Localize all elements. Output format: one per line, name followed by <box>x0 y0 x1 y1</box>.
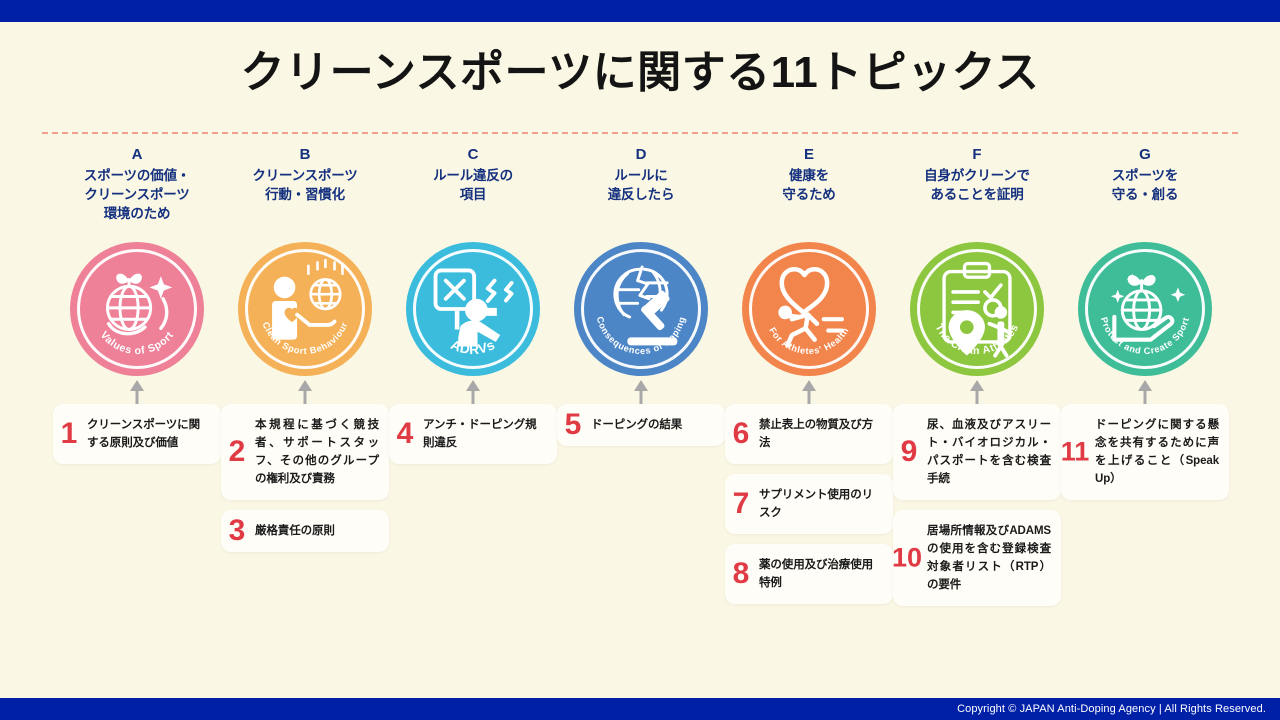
badge-f[interactable]: The Clean Athletes <box>910 242 1044 376</box>
badge-g[interactable]: Protect and Create Sport <box>1078 242 1212 376</box>
topic-column-d: Dルールに違反したら Consequences of Doping 5ドーピング… <box>557 146 725 204</box>
badge-label-arc: ADRVs <box>406 242 540 376</box>
topics-columns: Aスポーツの価値・クリーンスポーツ環境のため Values of Sport 1… <box>0 146 1280 686</box>
column-letter: G <box>1061 146 1229 164</box>
badge-label-arc: The Clean Athletes <box>910 242 1044 376</box>
column-letter: F <box>893 146 1061 164</box>
topic-column-b: Bクリーンスポーツ行動・習慣化 Clean Sport Behaviour <box>221 146 389 204</box>
topic-number: 6 <box>723 419 759 449</box>
topic-text: ドーピングに関する懸念を共有するために声を上げること（Speak Up） <box>1095 416 1219 488</box>
topic-column-a: Aスポーツの価値・クリーンスポーツ環境のため Values of Sport 1… <box>53 146 221 223</box>
topic-card[interactable]: 1クリーンスポーツに関する原則及び価値 <box>53 404 221 464</box>
cards-list: 4アンチ・ドーピング規則違反 <box>389 404 557 474</box>
column-title: ルール違反の項目 <box>389 166 557 204</box>
column-title: 健康を守るため <box>725 166 893 204</box>
badge-circle: The Clean Athletes <box>910 242 1044 376</box>
topic-card[interactable]: 7サプリメント使用のリスク <box>725 474 893 534</box>
column-title: スポーツの価値・クリーンスポーツ環境のため <box>53 166 221 223</box>
badge-label-arc: For Athletes' Health <box>742 242 876 376</box>
footer-bar: Copyright © JAPAN Anti-Doping Agency | A… <box>0 698 1280 720</box>
svg-text:Values of Sport: Values of Sport <box>98 329 177 357</box>
badge-a[interactable]: Values of Sport <box>70 242 204 376</box>
badge-d[interactable]: Consequences of Doping <box>574 242 708 376</box>
topic-number: 3 <box>219 516 255 546</box>
topic-text: 居場所情報及びADAMSの使用を含む登録検査対象者リスト（RTP）の要件 <box>927 522 1051 594</box>
svg-text:The Clean Athletes: The Clean Athletes <box>933 322 1022 357</box>
badge-label-arc: Protect and Create Sport <box>1078 242 1212 376</box>
topic-text: アンチ・ドーピング規則違反 <box>423 416 547 452</box>
topic-card[interactable]: 9尿、血液及びアスリート・バイオロジカル・パスポートを含む検査手続 <box>893 404 1061 500</box>
topic-text: 尿、血液及びアスリート・バイオロジカル・パスポートを含む検査手続 <box>927 416 1051 488</box>
badge-circle: Values of Sport <box>70 242 204 376</box>
cards-list: 5ドーピングの結果 <box>557 404 725 456</box>
topic-number: 2 <box>219 437 255 467</box>
badge-circle: For Athletes' Health <box>742 242 876 376</box>
svg-text:Clean Sport Behaviour: Clean Sport Behaviour <box>260 320 349 356</box>
svg-text:For Athletes' Health: For Athletes' Health <box>767 326 851 357</box>
column-title: クリーンスポーツ行動・習慣化 <box>221 166 389 204</box>
svg-text:Consequences of Doping: Consequences of Doping <box>595 315 688 356</box>
topic-text: ドーピングの結果 <box>591 416 715 434</box>
topic-text: サプリメント使用のリスク <box>759 486 883 522</box>
topic-text: 本規程に基づく競技者、サポートスタッフ、その他のグループの権利及び責務 <box>255 416 379 488</box>
topic-text: 禁止表上の物質及び方法 <box>759 416 883 452</box>
topic-text: 厳格責任の原則 <box>255 522 379 540</box>
topic-number: 4 <box>387 419 423 449</box>
column-letter: C <box>389 146 557 164</box>
column-title: 自身がクリーンであることを証明 <box>893 166 1061 204</box>
topic-number: 9 <box>891 437 927 467</box>
topic-number: 10 <box>885 545 929 572</box>
cards-list: 1クリーンスポーツに関する原則及び価値 <box>53 404 221 474</box>
topic-number: 1 <box>51 419 87 449</box>
top-accent-bar <box>0 0 1280 22</box>
topic-card[interactable]: 5ドーピングの結果 <box>557 404 725 446</box>
topic-number: 11 <box>1053 439 1097 466</box>
topic-card[interactable]: 4アンチ・ドーピング規則違反 <box>389 404 557 464</box>
topic-text: 薬の使用及び治療使用特例 <box>759 556 883 592</box>
topic-column-f: F自身がクリーンであることを証明 The C <box>893 146 1061 204</box>
section-divider <box>42 132 1238 134</box>
topic-card[interactable]: 6禁止表上の物質及び方法 <box>725 404 893 464</box>
badge-c[interactable]: ADRVs <box>406 242 540 376</box>
column-title: ルールに違反したら <box>557 166 725 204</box>
svg-text:Protect and Create Sport: Protect and Create Sport <box>1099 316 1191 356</box>
topic-text: クリーンスポーツに関する原則及び価値 <box>87 416 211 452</box>
topic-card[interactable]: 2本規程に基づく競技者、サポートスタッフ、その他のグループの権利及び責務 <box>221 404 389 500</box>
topic-column-e: E健康を守るため For Athletes' Health 6禁止表上の物質及び… <box>725 146 893 204</box>
svg-text:ADRVs: ADRVs <box>449 337 498 357</box>
badge-label-arc: Values of Sport <box>70 242 204 376</box>
badge-circle: Consequences of Doping <box>574 242 708 376</box>
cards-list: 9尿、血液及びアスリート・バイオロジカル・パスポートを含む検査手続10居場所情報… <box>893 404 1061 616</box>
badge-circle: ADRVs <box>406 242 540 376</box>
column-letter: D <box>557 146 725 164</box>
cards-list: 6禁止表上の物質及び方法7サプリメント使用のリスク8薬の使用及び治療使用特例 <box>725 404 893 614</box>
cards-list: 2本規程に基づく競技者、サポートスタッフ、その他のグループの権利及び責務3厳格責… <box>221 404 389 562</box>
topic-card[interactable]: 8薬の使用及び治療使用特例 <box>725 544 893 604</box>
badge-circle: Clean Sport Behaviour <box>238 242 372 376</box>
column-letter: B <box>221 146 389 164</box>
badge-e[interactable]: For Athletes' Health <box>742 242 876 376</box>
topic-card[interactable]: 10居場所情報及びADAMSの使用を含む登録検査対象者リスト（RTP）の要件 <box>893 510 1061 606</box>
cards-list: 11ドーピングに関する懸念を共有するために声を上げること（Speak Up） <box>1061 404 1229 510</box>
column-letter: E <box>725 146 893 164</box>
topic-card[interactable]: 11ドーピングに関する懸念を共有するために声を上げること（Speak Up） <box>1061 404 1229 500</box>
page-title: クリーンスポーツに関する11トピックス <box>0 36 1280 100</box>
badge-label-arc: Consequences of Doping <box>574 242 708 376</box>
column-title: スポーツを守る・創る <box>1061 166 1229 204</box>
column-letter: A <box>53 146 221 164</box>
badge-b[interactable]: Clean Sport Behaviour <box>238 242 372 376</box>
topic-number: 7 <box>723 489 759 519</box>
badge-circle: Protect and Create Sport <box>1078 242 1212 376</box>
topic-number: 5 <box>555 410 591 440</box>
topic-number: 8 <box>723 559 759 589</box>
copyright-text: Copyright © JAPAN Anti-Doping Agency | A… <box>957 703 1266 715</box>
topic-card[interactable]: 3厳格責任の原則 <box>221 510 389 552</box>
topic-column-c: Cルール違反の項目 ADRVs 4アンチ・ドーピング規則違反 <box>389 146 557 204</box>
topic-column-g: Gスポーツを守る・創る Protect and Create Sport <box>1061 146 1229 204</box>
badge-label-arc: Clean Sport Behaviour <box>238 242 372 376</box>
